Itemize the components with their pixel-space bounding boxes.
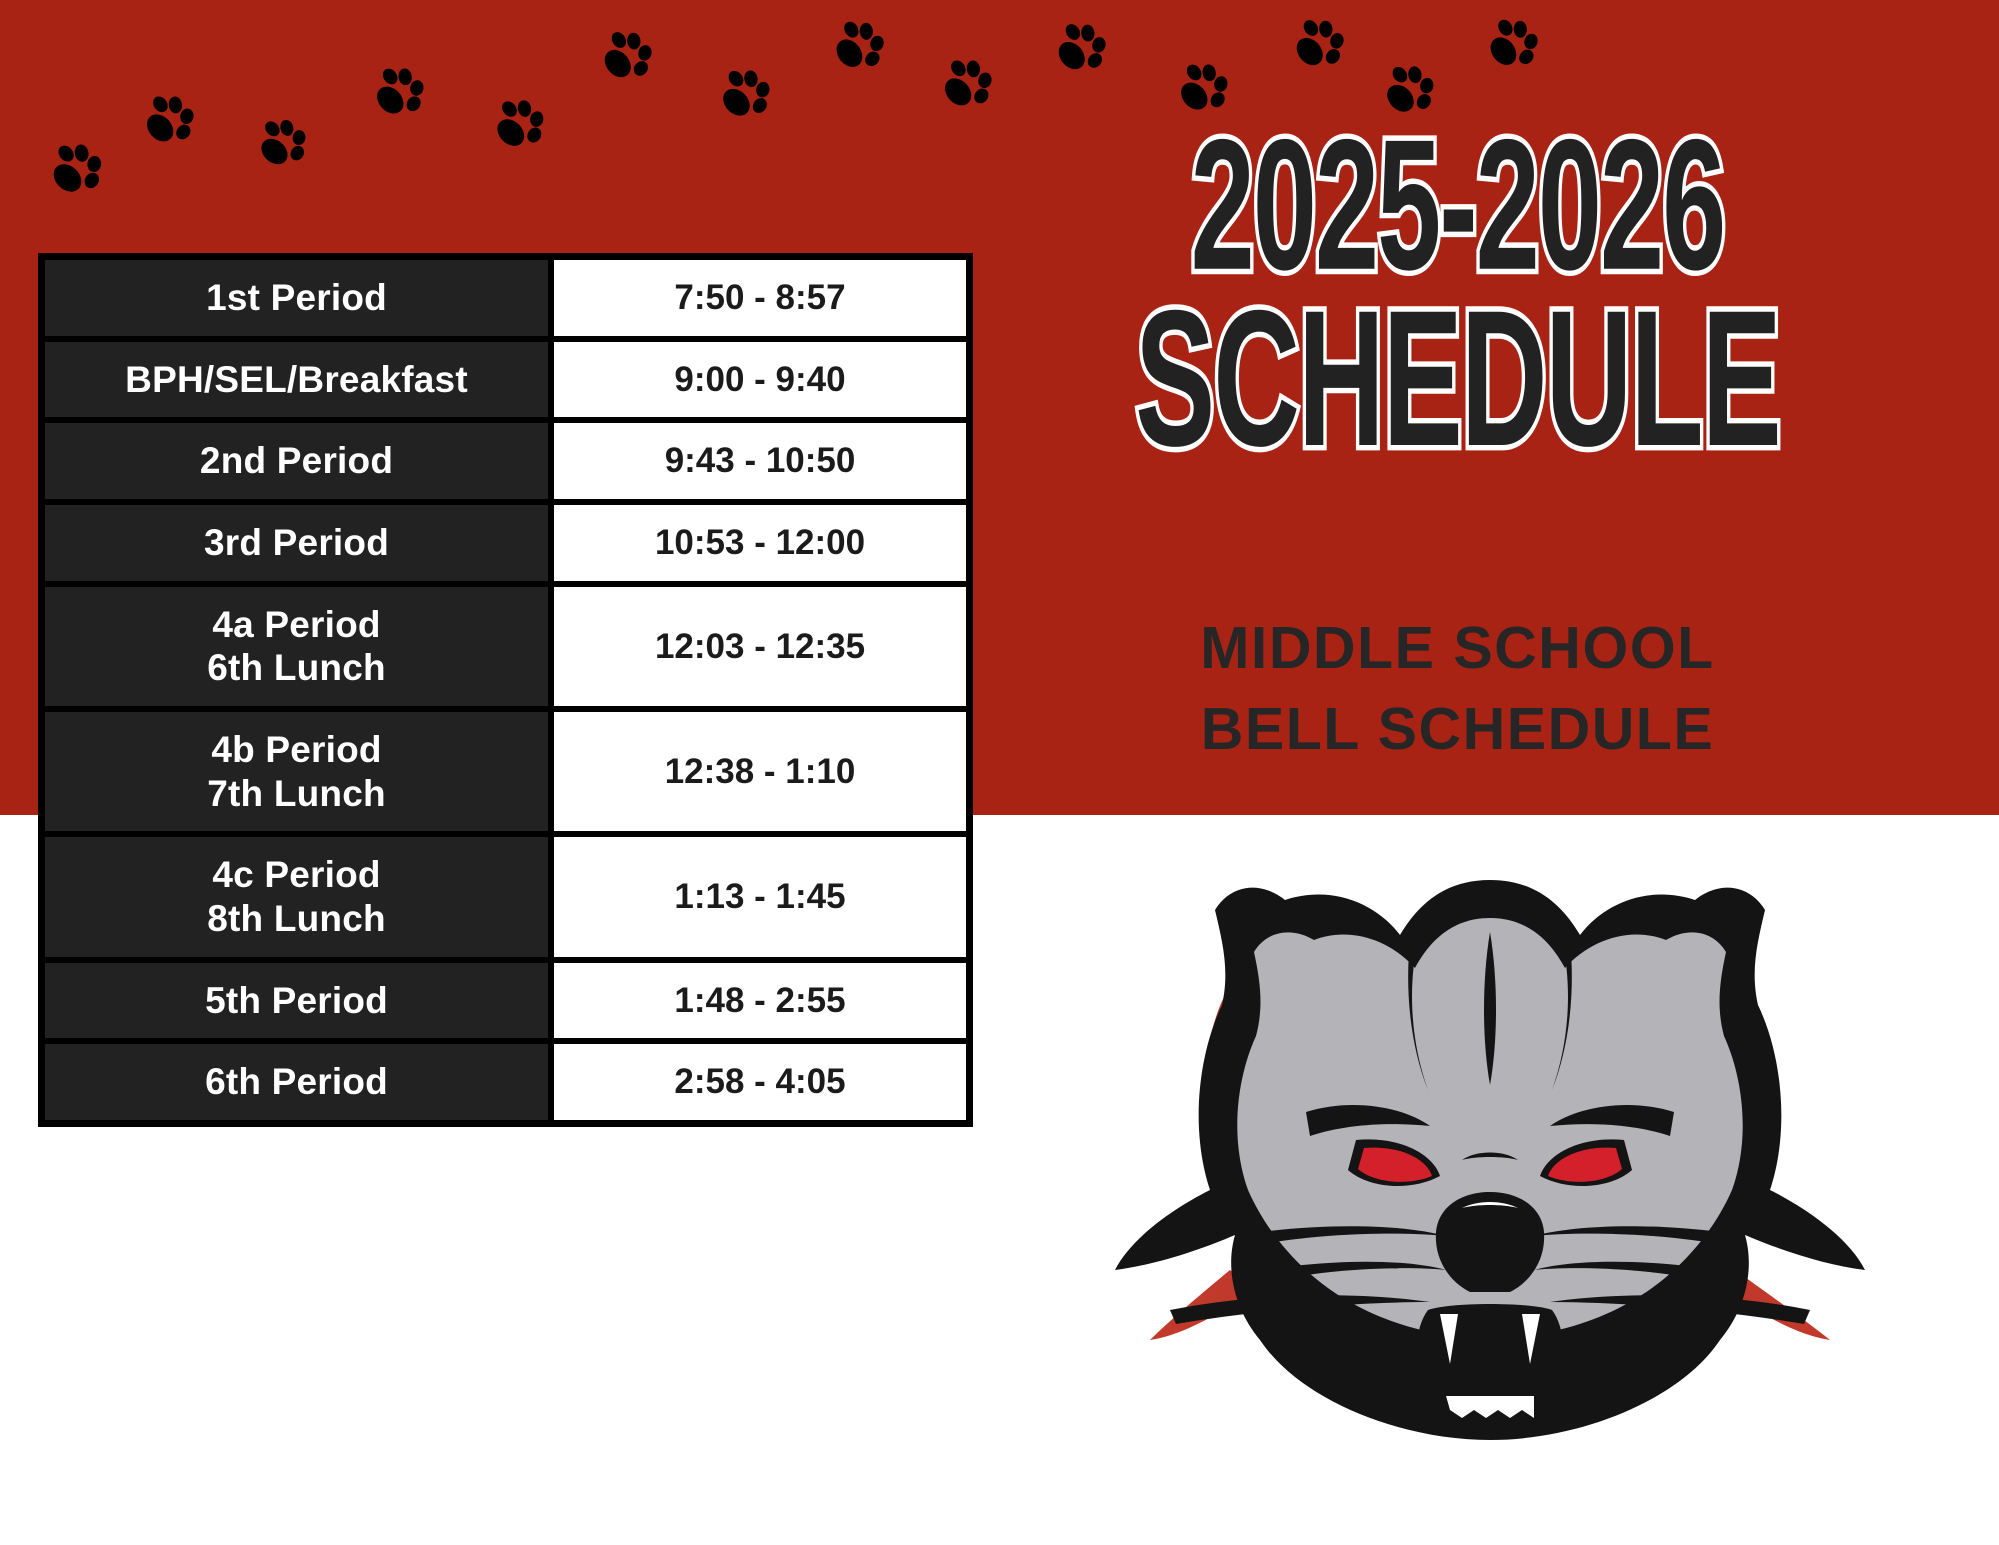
wildcat-mascot-icon — [1110, 840, 1870, 1460]
period-label-line1: 1st Period — [206, 277, 387, 318]
table-row: 1st Period7:50 - 8:57 — [42, 257, 969, 339]
table-row: 5th Period1:48 - 2:55 — [42, 960, 969, 1042]
paw-print-icon — [592, 18, 663, 89]
period-time-cell: 1:48 - 2:55 — [551, 960, 969, 1042]
paw-print-icon — [1479, 7, 1549, 77]
period-time-cell: 2:58 - 4:05 — [551, 1041, 969, 1123]
period-time-cell: 12:38 - 1:10 — [551, 709, 969, 834]
table-row: 2nd Period9:43 - 10:50 — [42, 420, 969, 502]
period-label-cell: 1st Period — [42, 257, 551, 339]
period-time-cell: 10:53 - 12:00 — [551, 502, 969, 584]
table-row: 4b Period7th Lunch12:38 - 1:10 — [42, 709, 969, 834]
period-label-line1: 2nd Period — [200, 440, 393, 481]
period-label-line1: 4b Period — [211, 729, 381, 770]
period-time-cell: 9:00 - 9:40 — [551, 339, 969, 421]
period-time-cell: 12:03 - 12:35 — [551, 584, 969, 709]
period-time-cell: 7:50 - 8:57 — [551, 257, 969, 339]
paw-print-icon — [1284, 6, 1355, 77]
period-label-cell: 5th Period — [42, 960, 551, 1042]
bell-schedule-table: 1st Period7:50 - 8:57BPH/SEL/Breakfast9:… — [38, 253, 973, 1127]
subtitle-line-bell-schedule: BELL SCHEDULE — [940, 689, 1975, 770]
table-row: 6th Period2:58 - 4:05 — [42, 1041, 969, 1123]
period-label-cell: BPH/SEL/Breakfast — [42, 339, 551, 421]
period-label-cell: 4b Period7th Lunch — [42, 709, 551, 834]
period-label-line1: 4a Period — [212, 604, 380, 645]
period-label-cell: 4a Period6th Lunch — [42, 584, 551, 709]
period-label-line2: 6th Lunch — [55, 646, 538, 690]
period-label-line1: 3rd Period — [204, 522, 389, 563]
period-label-line2: 7th Lunch — [55, 772, 538, 816]
paw-print-icon — [825, 9, 895, 79]
poster-subtitle-block: MIDDLE SCHOOL BELL SCHEDULE — [940, 608, 1975, 771]
poster-title-block: 2025-2026 SCHEDULE — [940, 120, 1975, 463]
subtitle-line-school: MIDDLE SCHOOL — [940, 608, 1975, 689]
table-row: 4c Period8th Lunch1:13 - 1:45 — [42, 834, 969, 959]
period-label-line1: 5th Period — [205, 980, 388, 1021]
period-label-line1: BPH/SEL/Breakfast — [125, 359, 468, 400]
page-title-year: 2025-2026 — [961, 120, 1955, 291]
table-row: BPH/SEL/Breakfast9:00 - 9:40 — [42, 339, 969, 421]
period-label-cell: 4c Period8th Lunch — [42, 834, 551, 959]
period-label-cell: 2nd Period — [42, 420, 551, 502]
period-label-cell: 6th Period — [42, 1041, 551, 1123]
period-label-cell: 3rd Period — [42, 502, 551, 584]
paw-print-icon — [1046, 10, 1117, 81]
table-row: 3rd Period10:53 - 12:00 — [42, 502, 969, 584]
period-label-line2: 8th Lunch — [55, 897, 538, 941]
page-title-word: SCHEDULE — [961, 290, 1955, 468]
period-time-cell: 1:13 - 1:45 — [551, 834, 969, 959]
period-time-cell: 9:43 - 10:50 — [551, 420, 969, 502]
period-label-line1: 4c Period — [212, 854, 380, 895]
table-row: 4a Period6th Lunch12:03 - 12:35 — [42, 584, 969, 709]
period-label-line1: 6th Period — [205, 1061, 388, 1102]
